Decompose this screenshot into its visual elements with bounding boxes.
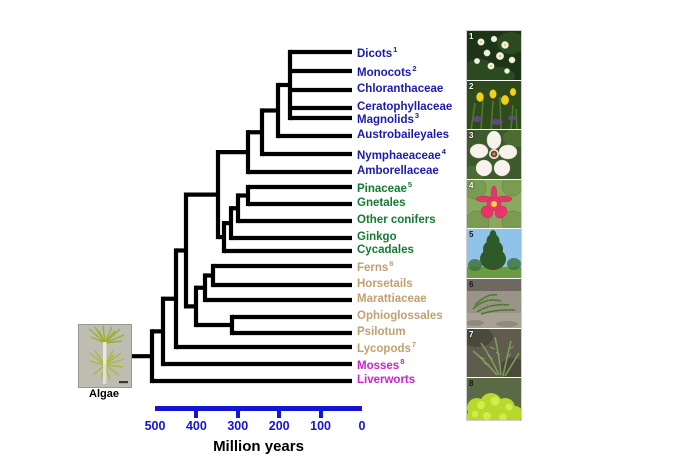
tip-label-text: Horsetails <box>357 278 413 290</box>
photo-1-dicots: 1 <box>467 31 521 81</box>
algae-thumbnail <box>78 324 132 388</box>
axis-tick-label-0: 0 <box>342 420 382 433</box>
tip-label-superscript: 7 <box>412 340 416 349</box>
tip-label-liverworts: Liverworts <box>357 375 415 387</box>
tip-label-mosses: Mosses8 <box>357 358 404 372</box>
tip-label-superscript: 8 <box>400 357 404 366</box>
tip-label-superscript: 1 <box>393 45 397 54</box>
photo-2-image <box>467 81 521 130</box>
tip-label-chloranthaceae: Chloranthaceae <box>357 84 443 96</box>
photo-5-conifer: 5 <box>467 229 521 279</box>
photo-2-monocots: 2 <box>467 81 521 131</box>
tip-label-nymphaeaceae: Nymphaeaceae4 <box>357 148 446 162</box>
tip-label-austrobaileyales: Austrobaileyales <box>357 130 449 142</box>
tip-label-horsetails: Horsetails <box>357 279 413 291</box>
tip-label-text: Monocots <box>357 67 411 79</box>
algae-illustration <box>79 325 131 387</box>
tip-label-gnetales: Gnetales <box>357 198 406 210</box>
axis-tick-label-500: 500 <box>135 420 175 433</box>
photo-6-image <box>467 279 521 328</box>
axis-tick-label-400: 400 <box>176 420 216 433</box>
photo-number-7: 7 <box>469 330 473 339</box>
tip-label-superscript: 4 <box>442 147 446 156</box>
photo-number-8: 8 <box>469 379 473 388</box>
tip-label-monocots: Monocots2 <box>357 65 416 79</box>
tip-label-text: Mosses <box>357 360 399 372</box>
tip-label-superscript: 2 <box>412 64 416 73</box>
tip-label-ginkgo: Ginkgo <box>357 232 397 244</box>
photo-4-waterlily: 4 <box>467 180 521 230</box>
axis-tick-label-300: 300 <box>218 420 258 433</box>
algae-caption: Algae <box>78 388 130 400</box>
tip-label-text: Ferns <box>357 262 388 274</box>
tip-label-text: Ophioglossales <box>357 310 443 322</box>
tip-label-psilotum: Psilotum <box>357 327 406 339</box>
tip-label-marattiaceae: Marattiaceae <box>357 294 427 306</box>
cladogram-branches <box>0 0 700 471</box>
tip-label-superscript: 6 <box>389 259 393 268</box>
tip-label-lycopods: Lycopods7 <box>357 341 416 355</box>
axis-tick-200 <box>277 411 281 418</box>
tip-label-text: Other conifers <box>357 214 436 226</box>
photo-3-magnolia: 3 <box>467 130 521 180</box>
axis-tick-label-200: 200 <box>259 420 299 433</box>
tip-label-text: Gnetales <box>357 197 406 209</box>
photo-7-lycopod: 7 <box>467 329 521 379</box>
tip-label-text: Amborellaceae <box>357 165 439 177</box>
photo-strip: 1 2 <box>466 30 522 421</box>
photo-number-6: 6 <box>469 280 473 289</box>
tip-label-pinaceae: Pinaceae5 <box>357 181 412 195</box>
tip-label-text: Psilotum <box>357 326 406 338</box>
photo-number-5: 5 <box>469 230 473 239</box>
axis-tick-label-100: 100 <box>301 420 341 433</box>
axis-title: Million years <box>135 439 382 454</box>
axis-tick-100 <box>319 411 323 418</box>
tip-label-text: Dicots <box>357 48 392 60</box>
photo-3-image <box>467 130 521 179</box>
axis-bar <box>155 406 362 411</box>
photo-1-image <box>467 31 521 80</box>
axis-tick-300 <box>236 411 240 418</box>
tip-label-text: Pinaceae <box>357 183 407 195</box>
tip-label-text: Austrobaileyales <box>357 129 449 141</box>
tip-label-ferns: Ferns6 <box>357 260 394 274</box>
tip-label-other-conifers: Other conifers <box>357 215 436 227</box>
photo-number-4: 4 <box>469 181 473 190</box>
tip-label-text: Lycopods <box>357 343 411 355</box>
tip-label-cycadales: Cycadales <box>357 245 414 257</box>
tip-label-superscript: 3 <box>415 111 419 120</box>
photo-8-image <box>467 378 521 421</box>
tip-label-text: Liverworts <box>357 374 415 386</box>
tip-label-magnolids: Magnolids3 <box>357 112 419 126</box>
tip-label-ophioglossales: Ophioglossales <box>357 311 443 323</box>
photo-number-1: 1 <box>469 32 473 41</box>
photo-8-moss: 8 <box>467 378 521 421</box>
tip-label-text: Magnolids <box>357 114 414 126</box>
phylogeny-figure: Dicots1Monocots2ChloranthaceaeCeratophyl… <box>0 0 700 471</box>
tip-label-text: Marattiaceae <box>357 293 427 305</box>
photo-number-2: 2 <box>469 82 473 91</box>
axis-tick-400 <box>194 411 198 418</box>
tip-label-text: Ginkgo <box>357 231 397 243</box>
tip-label-amborellaceae: Amborellaceae <box>357 166 439 178</box>
photo-number-3: 3 <box>469 131 473 140</box>
tip-label-text: Nymphaeaceae <box>357 150 441 162</box>
photo-6-ferns: 6 <box>467 279 521 329</box>
tip-label-text: Chloranthaceae <box>357 83 443 95</box>
photo-4-image <box>467 180 521 229</box>
photo-7-image <box>467 329 521 378</box>
photo-5-image <box>467 229 521 278</box>
tip-label-dicots: Dicots1 <box>357 46 397 60</box>
tip-label-text: Cycadales <box>357 244 414 256</box>
tip-label-superscript: 5 <box>408 180 412 189</box>
